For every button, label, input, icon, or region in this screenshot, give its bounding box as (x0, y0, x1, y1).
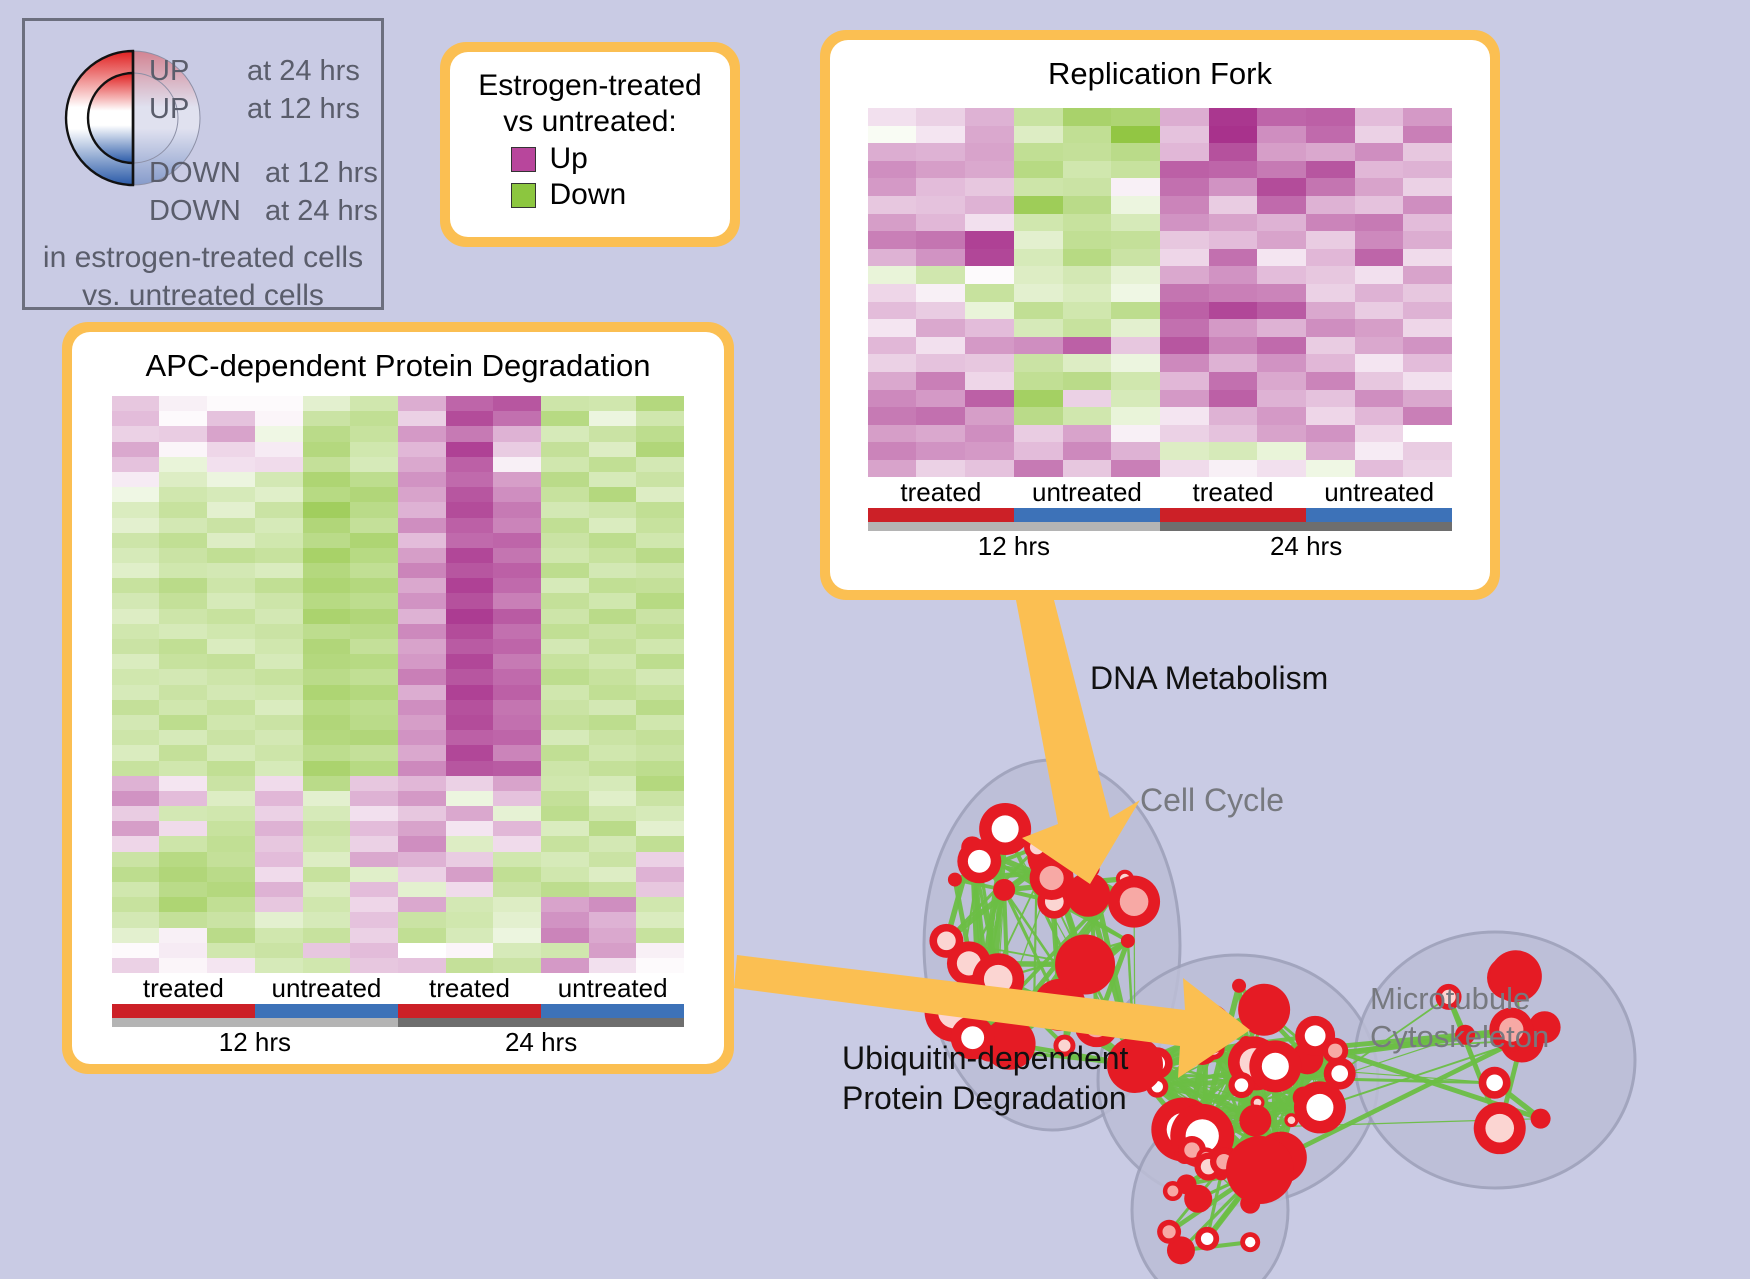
heatmap-cell (589, 867, 637, 882)
heatmap-cell (916, 319, 965, 337)
group-label-treated-12: treated (112, 973, 255, 1004)
heatmap-cell (303, 487, 351, 502)
heatmap-cell (589, 912, 637, 927)
heatmap-cell (868, 214, 917, 232)
heatmap-cell (207, 396, 255, 411)
heatmap-cell (446, 396, 494, 411)
timepoint-label-12hrs: 12 hrs (868, 531, 1160, 562)
legend-item-up: Up (464, 142, 716, 176)
timepoint-label-24hrs: 24 hrs (398, 1027, 684, 1058)
heatmap-cell (541, 836, 589, 851)
heatmap-cell (159, 624, 207, 639)
heatmap-cell (1257, 143, 1306, 161)
heatmap-cell (1111, 143, 1160, 161)
legend-title-line2: vs untreated: (464, 104, 716, 140)
heatmap-cell (965, 143, 1014, 161)
heatmap-cell (493, 685, 541, 700)
heatmap-cell (207, 882, 255, 897)
heatmap-cell (207, 821, 255, 836)
heatmap-cell (207, 745, 255, 760)
network-node[interactable] (1055, 935, 1115, 995)
heatmap-cell (493, 533, 541, 548)
heatmap-cell (207, 943, 255, 958)
heatmap-cell (1160, 249, 1209, 267)
heatmap-cell (255, 533, 303, 548)
network-node[interactable] (1238, 984, 1290, 1036)
heatmap-cell (1306, 302, 1355, 320)
heatmap-cell (255, 669, 303, 684)
heatmap-cell (493, 518, 541, 533)
bar-untreated-12 (255, 1004, 398, 1018)
heatmap-cell (636, 518, 684, 533)
heatmap-cell (1257, 372, 1306, 390)
heatmap-cell (398, 578, 446, 593)
heatmap-cell (350, 563, 398, 578)
heatmap-cell (398, 700, 446, 715)
group-label-untreated-24: untreated (541, 973, 684, 1004)
heatmap-cell (493, 958, 541, 973)
heatmap-cell (1014, 284, 1063, 302)
heatmap-cell (350, 836, 398, 851)
heatmap-cell (493, 639, 541, 654)
heatmap-cell (868, 178, 917, 196)
heatmap-cell (868, 442, 917, 460)
heatmap-cell (303, 578, 351, 593)
heatmap-cell (112, 958, 160, 973)
heatmap-cell (303, 715, 351, 730)
heatmap-cell (303, 943, 351, 958)
heatmap-cell (207, 624, 255, 639)
heatmap-cell (255, 745, 303, 760)
heatmap-cell (1209, 460, 1258, 478)
heatmap-cell (1306, 425, 1355, 443)
color-key-footer-line1: in estrogen-treated cells (25, 239, 381, 277)
heatmap-cell (303, 548, 351, 563)
heatmap-cell (255, 943, 303, 958)
heatmap-cell (1403, 143, 1452, 161)
heatmap-cell (303, 411, 351, 426)
heatmap-cell (303, 533, 351, 548)
heatmap-cell (207, 897, 255, 912)
heatmap-cell (541, 533, 589, 548)
heatmap-cell (1063, 302, 1112, 320)
heatmap-cell (207, 730, 255, 745)
heatmap-cell (207, 761, 255, 776)
heatmap-cell (112, 912, 160, 927)
heatmap-cell (112, 897, 160, 912)
heatmap-cell (1063, 231, 1112, 249)
heatmap-cell (255, 806, 303, 821)
heatmap-cell (636, 411, 684, 426)
heatmap-cell (303, 836, 351, 851)
heatmap-cell (112, 791, 160, 806)
heatmap-cell (541, 487, 589, 502)
heatmap-cell (589, 776, 637, 791)
heatmap-cell (868, 143, 917, 161)
group-labels-row: treated untreated treated untreated (112, 973, 684, 1004)
color-key-footer: in estrogen-treated cells vs. untreated … (25, 239, 381, 315)
heatmap-cell (1355, 390, 1404, 408)
heatmap-cell (446, 928, 494, 943)
heatmap-cell (493, 396, 541, 411)
heatmap-cell (1111, 108, 1160, 126)
heatmap-cell (255, 654, 303, 669)
heatmap-cell (350, 730, 398, 745)
heatmap-cell (1257, 126, 1306, 144)
panel-replication-fork: Replication Fork treated untreated treat… (820, 30, 1500, 600)
heatmap-cell (1355, 126, 1404, 144)
heatmap-cell (255, 639, 303, 654)
heatmap-cell (965, 337, 1014, 355)
heatmap-cell (112, 882, 160, 897)
heatmap-cell (1403, 266, 1452, 284)
heatmap-cell (112, 867, 160, 882)
heatmap-cell (255, 593, 303, 608)
heatmap-cell (350, 806, 398, 821)
heatmap-cell (255, 928, 303, 943)
heatmap-cell (1209, 442, 1258, 460)
heatmap-cell (636, 791, 684, 806)
heatmap-cell (965, 442, 1014, 460)
heatmap-cell (398, 791, 446, 806)
network-node-core (1167, 1186, 1178, 1197)
heatmap-cell (398, 563, 446, 578)
bar-untreated-24 (1306, 508, 1452, 522)
heatmap-cell (207, 654, 255, 669)
heatmap-cell (303, 867, 351, 882)
heatmap-cell (398, 487, 446, 502)
heatmap-cell (1355, 354, 1404, 372)
heatmap-cell (112, 472, 160, 487)
bar-treated-12 (112, 1004, 255, 1018)
heatmap-cell (1257, 390, 1306, 408)
heatmap-cell (446, 791, 494, 806)
heatmap-cell (965, 284, 1014, 302)
heatmap-cell (589, 457, 637, 472)
heatmap-cell (1209, 231, 1258, 249)
heatmap-cell (916, 372, 965, 390)
heatmap-cell (350, 685, 398, 700)
heatmap-cell (159, 776, 207, 791)
heatmap-cell (350, 745, 398, 760)
heatmap-cell (965, 460, 1014, 478)
heatmap-cell (207, 669, 255, 684)
heatmap-cell (916, 231, 965, 249)
heatmap-cell (255, 836, 303, 851)
heatmap-cell (1306, 319, 1355, 337)
heatmap-cell (159, 578, 207, 593)
heatmap-cell (350, 897, 398, 912)
heatmap-cell (1160, 319, 1209, 337)
heatmap-cell (589, 548, 637, 563)
heatmap-cell (916, 284, 965, 302)
heatmap-cell (636, 639, 684, 654)
heatmap-cell (868, 372, 917, 390)
heatmap-cell (159, 609, 207, 624)
heatmap-cell (1209, 196, 1258, 214)
heatmap-cell (303, 700, 351, 715)
timepoint-label-12hrs: 12 hrs (112, 1027, 398, 1058)
heatmap-cell (446, 639, 494, 654)
network-node[interactable] (948, 873, 962, 887)
network-node[interactable] (1226, 1136, 1294, 1204)
heatmap-cell (589, 730, 637, 745)
panel-title-replication-fork: Replication Fork (830, 40, 1490, 92)
heatmap-cell (112, 776, 160, 791)
heatmap-cell (916, 407, 965, 425)
heatmap-cell (1014, 108, 1063, 126)
heatmap-cell (303, 426, 351, 441)
heatmap-cell (207, 578, 255, 593)
heatmap-cell (255, 518, 303, 533)
heatmap-cell (1355, 372, 1404, 390)
heatmap-cell (1014, 319, 1063, 337)
heatmap-cell (1063, 319, 1112, 337)
heatmap-cell (589, 897, 637, 912)
heatmap-cell (446, 852, 494, 867)
heatmap-cell (159, 654, 207, 669)
key-label-up-24: UP (149, 55, 189, 88)
color-key-box: UP at 24 hrs UP at 12 hrs DOWN at 12 hrs… (22, 18, 384, 310)
heatmap-cell (112, 730, 160, 745)
heatmap-cell (303, 502, 351, 517)
key-label-down-24: DOWN (149, 195, 241, 228)
heatmap-cell (636, 806, 684, 821)
heatmap-cell (1306, 337, 1355, 355)
network-node[interactable] (1066, 873, 1110, 917)
heatmap-cell (965, 178, 1014, 196)
heatmap-cell (589, 396, 637, 411)
heatmap-cell (1355, 178, 1404, 196)
heatmap-cell (589, 791, 637, 806)
heatmap-cell (916, 249, 965, 267)
heatmap-cell (446, 548, 494, 563)
heatmap-cell (636, 593, 684, 608)
heatmap-cell (303, 928, 351, 943)
heatmap-cell (350, 502, 398, 517)
heatmap-cell (965, 354, 1014, 372)
heatmap-cell (207, 852, 255, 867)
heatmap-cell (207, 457, 255, 472)
heatmap-cell (350, 654, 398, 669)
heatmap-cell (255, 502, 303, 517)
heatmap-cell (1209, 266, 1258, 284)
heatmap-cell (541, 669, 589, 684)
heatmap-cell (112, 548, 160, 563)
heatmap-cell (112, 502, 160, 517)
heatmap-cell (159, 791, 207, 806)
heatmap-cell (868, 284, 917, 302)
group-label-treated-24: treated (398, 973, 541, 1004)
heatmap-cell (541, 806, 589, 821)
heatmap-cell (159, 457, 207, 472)
heatmap-cell (303, 457, 351, 472)
heatmap-cell (350, 457, 398, 472)
network-node[interactable] (1239, 1105, 1271, 1137)
key-time-down-24: at 24 hrs (265, 195, 378, 228)
heatmap-cell (868, 108, 917, 126)
heatmap-cell (303, 518, 351, 533)
heatmap-cell (159, 912, 207, 927)
heatmap-cell (446, 745, 494, 760)
heatmap-cell (493, 669, 541, 684)
heatmap-cell (541, 396, 589, 411)
heatmap-cell (1355, 460, 1404, 478)
heatmap-cell (541, 761, 589, 776)
heatmap-cell (350, 609, 398, 624)
heatmap-cell (541, 745, 589, 760)
network-node[interactable] (1121, 934, 1135, 948)
heatmap-cell (493, 745, 541, 760)
heatmap-cell (1014, 196, 1063, 214)
heatmap-cell (965, 319, 1014, 337)
heatmap-cell (446, 411, 494, 426)
key-label-up-12: UP (149, 93, 189, 126)
heatmap-cell (303, 593, 351, 608)
bar-treated-24 (398, 1004, 541, 1018)
heatmap-cell (446, 882, 494, 897)
heatmap-cell (916, 178, 965, 196)
network-node[interactable] (993, 879, 1015, 901)
heatmap-cell (446, 624, 494, 639)
heatmap-cell (398, 502, 446, 517)
heatmap-cell (589, 761, 637, 776)
heatmap-cell (112, 639, 160, 654)
heatmap-cell (493, 593, 541, 608)
heatmap-cell (541, 912, 589, 927)
heatmap-cell (589, 563, 637, 578)
heatmap-cell (1403, 302, 1452, 320)
key-time-up-24: at 24 hrs (247, 55, 360, 88)
heatmap-cell (868, 302, 917, 320)
heatmap-cell (1160, 425, 1209, 443)
heatmap-cell (446, 821, 494, 836)
heatmap-cell (1403, 442, 1452, 460)
heatmap-cell (1014, 302, 1063, 320)
heatmap-cell (159, 852, 207, 867)
heatmap-cell (1063, 266, 1112, 284)
axis-apc: treated untreated treated untreated 12 h (112, 973, 684, 1058)
heatmap-cell (1257, 460, 1306, 478)
heatmap-cell (207, 487, 255, 502)
heatmap-cell (965, 196, 1014, 214)
heatmap-cell (636, 928, 684, 943)
network-node[interactable] (1531, 1109, 1551, 1129)
heatmap-cell (493, 411, 541, 426)
heatmap-cell (1111, 354, 1160, 372)
heatmap-cell (398, 518, 446, 533)
heatmap-cell (493, 487, 541, 502)
heatmap-cell (541, 685, 589, 700)
heatmap-cell (159, 548, 207, 563)
heatmap-cell (1306, 214, 1355, 232)
heatmap-cell (1355, 302, 1404, 320)
heatmap-cell (112, 700, 160, 715)
heatmap-cell (1257, 108, 1306, 126)
heatmap-cell (1160, 442, 1209, 460)
heatmap-cell (1063, 178, 1112, 196)
heatmap-cell (1160, 161, 1209, 179)
heatmap-cell (446, 609, 494, 624)
heatmap-cell (398, 715, 446, 730)
heatmap-cell (207, 928, 255, 943)
heatmap-cell (398, 533, 446, 548)
heatmap-cell (1111, 390, 1160, 408)
panel-apc-degradation: APC-dependent Protein Degradation treate… (62, 322, 734, 1074)
heatmap-cell (1403, 372, 1452, 390)
heatmap-cell (1257, 196, 1306, 214)
heatmap-cell (350, 761, 398, 776)
heatmap-cell (541, 715, 589, 730)
heatmap-cell (1111, 161, 1160, 179)
legend-label-up: Up (550, 142, 670, 176)
heatmap-cell (398, 943, 446, 958)
heatmap-cell (112, 685, 160, 700)
heatmap-cell (1063, 425, 1112, 443)
network-node[interactable] (1232, 979, 1246, 993)
heatmap-cell (1160, 178, 1209, 196)
heatmap-cell (1403, 460, 1452, 478)
heatmap-cell (1306, 390, 1355, 408)
heatmap-cell (446, 442, 494, 457)
heatmap-cell (868, 126, 917, 144)
heatmap-cell (1403, 231, 1452, 249)
heatmap-cell (159, 563, 207, 578)
heatmap-cell (255, 897, 303, 912)
heatmap-cell (636, 426, 684, 441)
heatmap-cell (446, 715, 494, 730)
heatmap-cell (398, 761, 446, 776)
heatmap-cell (589, 685, 637, 700)
heatmap-cell (350, 639, 398, 654)
heatmap-cell (1403, 249, 1452, 267)
heatmap-cell (1355, 407, 1404, 425)
heatmap-cell (112, 715, 160, 730)
heatmap-cell (636, 715, 684, 730)
heatmap-cell (303, 776, 351, 791)
network-node[interactable] (1181, 1003, 1233, 1055)
heatmap-cell (112, 821, 160, 836)
heatmap-cell (493, 882, 541, 897)
heatmap-cell (350, 821, 398, 836)
heatmap-cell (207, 472, 255, 487)
heatmap-cell (207, 442, 255, 457)
heatmap-cell (398, 806, 446, 821)
heatmap-cell (589, 806, 637, 821)
heatmap-cell (868, 196, 917, 214)
timepoint-color-bars (112, 1018, 684, 1027)
heatmap-cell (541, 442, 589, 457)
heatmap-cell (255, 776, 303, 791)
heatmap-cell (1063, 126, 1112, 144)
heatmap-cell (446, 685, 494, 700)
heatmap-cell (636, 533, 684, 548)
heatmap-cell (589, 533, 637, 548)
group-label-untreated-12: untreated (255, 973, 398, 1004)
heatmap-cell (1403, 390, 1452, 408)
heatmap-cell (868, 354, 917, 372)
heatmap-cell (398, 426, 446, 441)
heatmap-cell (1111, 126, 1160, 144)
heatmap-cell (589, 593, 637, 608)
heatmap-cell (303, 442, 351, 457)
heatmap-cell (1063, 214, 1112, 232)
heatmap-cell (159, 958, 207, 973)
heatmap-cell (1014, 143, 1063, 161)
heatmap-cell (1209, 354, 1258, 372)
bar-untreated-12 (1014, 508, 1160, 522)
heatmap-cell (350, 912, 398, 927)
